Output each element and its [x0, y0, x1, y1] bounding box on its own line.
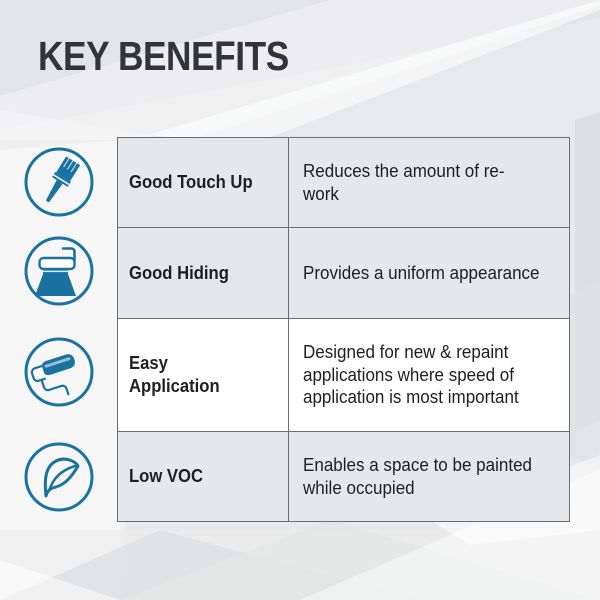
- benefit-label-text: Good Touch Up: [129, 171, 253, 194]
- paint-brush-icon: [22, 145, 96, 219]
- paint-roller-front-icon: [22, 234, 96, 308]
- benefit-description-1: Reduces the amount of re-work: [289, 138, 570, 228]
- benefit-description-text: Reduces the amount of re-work: [303, 160, 540, 206]
- benefit-description-3: Designed for new & repaint applications …: [289, 319, 570, 432]
- benefit-label-2: Good Hiding: [118, 228, 289, 319]
- benefit-label-text: Low VOC: [129, 465, 203, 488]
- benefit-description-text: Enables a space to be painted while occu…: [303, 454, 540, 500]
- benefit-description-text: Designed for new & repaint applications …: [303, 341, 540, 410]
- table-row: Good Touch Up Reduces the amount of re-w…: [118, 138, 570, 228]
- table-row: Low VOC Enables a space to be painted wh…: [118, 432, 570, 522]
- benefit-label-text-line1: Easy: [129, 352, 168, 375]
- benefit-icon-4: [19, 428, 99, 525]
- benefit-label-3: Easy Application: [118, 319, 289, 432]
- benefit-description-4: Enables a space to be painted while occu…: [289, 432, 570, 522]
- paint-roller-angled-icon: [22, 335, 96, 409]
- benefits-table: Good Touch Up Reduces the amount of re-w…: [117, 137, 570, 522]
- benefit-description-text: Provides a uniform appearance: [303, 262, 540, 285]
- benefit-icon-1: [19, 137, 99, 226]
- benefit-icon-column: [19, 137, 99, 525]
- page-title: KEY BENEFITS: [38, 36, 289, 77]
- key-benefits-graphic: KEY BENEFITS: [0, 0, 600, 600]
- benefit-description-2: Provides a uniform appearance: [289, 228, 570, 319]
- benefit-label-text: Good Hiding: [129, 262, 229, 285]
- benefit-label-1: Good Touch Up: [118, 138, 289, 228]
- benefit-icon-2: [19, 226, 99, 316]
- table-row: Good Hiding Provides a uniform appearanc…: [118, 228, 570, 319]
- table-row: Easy Application Designed for new & repa…: [118, 319, 570, 432]
- benefit-label-text-line2: Application: [129, 375, 220, 398]
- benefit-label-4: Low VOC: [118, 432, 289, 522]
- benefit-icon-3: [19, 316, 99, 428]
- leaf-icon: [22, 440, 96, 514]
